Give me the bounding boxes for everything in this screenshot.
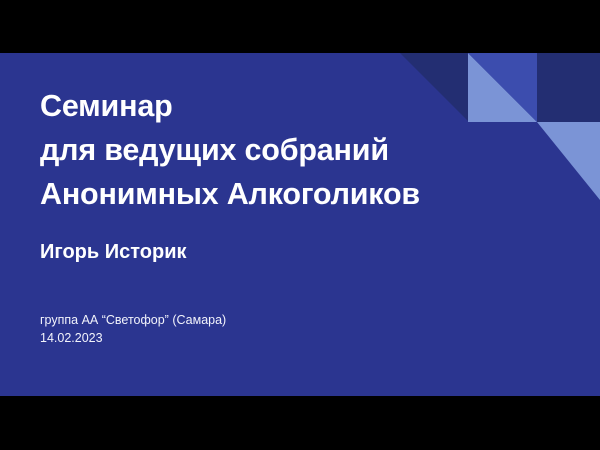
slide-canvas: Семинар для ведущих собраний Анонимных А… [0,53,600,396]
title-line-1: Семинар [40,84,510,128]
page-title: Семинар для ведущих собраний Анонимных А… [40,84,510,216]
title-line-3: Анонимных Алкоголиков [40,172,510,216]
slide-text-block: Семинар для ведущих собраний Анонимных А… [40,53,520,396]
footer-group-name: группа АА “Светофор” (Самара) [40,311,340,329]
footer-date: 14.02.2023 [40,329,340,347]
title-line-2: для ведущих собраний [40,128,510,172]
letterbox-bar-top [0,0,600,53]
slide-footer: группа АА “Светофор” (Самара) 14.02.2023 [40,311,340,347]
decor-lower-light-triangle [537,122,600,200]
decor-navy-right-block [537,53,600,122]
letterbox-bar-bottom [0,396,600,450]
slide-frame: Семинар для ведущих собраний Анонимных А… [0,0,600,450]
author-name: Игорь Историк [40,239,187,265]
